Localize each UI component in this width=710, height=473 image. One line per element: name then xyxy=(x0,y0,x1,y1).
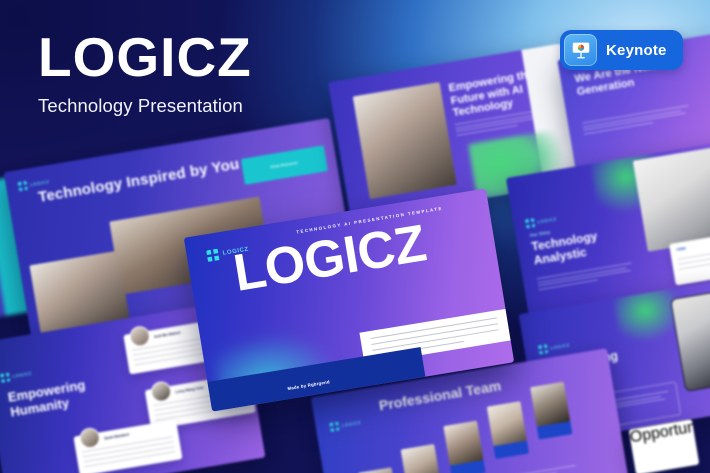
slide-logo: LOGICZ xyxy=(0,369,32,383)
body-lines xyxy=(537,263,634,291)
page-title: LOGICZ xyxy=(38,30,252,85)
keynote-presentation-icon xyxy=(564,34,597,66)
slide-logo: LOGICZ xyxy=(329,418,361,432)
avatar xyxy=(150,380,173,403)
logo-mark-icon xyxy=(525,218,535,228)
phone-mockup xyxy=(670,292,710,392)
team-member-card[interactable] xyxy=(487,401,529,459)
logo-mark-icon xyxy=(206,249,220,263)
member-photo xyxy=(487,401,527,446)
team-member-card[interactable] xyxy=(358,467,400,473)
stat-value: +999K xyxy=(676,246,687,252)
team-member-card[interactable] xyxy=(401,444,443,473)
view-discover-button[interactable]: View Discover xyxy=(241,145,328,185)
logo-mark-icon xyxy=(0,372,10,382)
logo-mark-icon xyxy=(329,422,339,432)
avatar xyxy=(128,325,151,348)
logo-mark-icon xyxy=(18,181,28,191)
slide-logo-text: LOGICZ xyxy=(537,216,557,224)
slide-title: Professional Team xyxy=(378,378,502,414)
slide-logo-text: LOGICZ xyxy=(341,420,361,428)
member-photo xyxy=(358,467,398,473)
member-photo xyxy=(530,382,570,427)
keynote-badge-label: Keynote xyxy=(606,42,667,59)
slide-logo: LOGICZ xyxy=(525,214,557,228)
team-member-card[interactable] xyxy=(530,382,572,440)
testimonial-name: Sarah Mandarct xyxy=(104,432,130,440)
slide-title: Empowering Humanity xyxy=(7,377,97,420)
button-label: View Discover xyxy=(241,145,328,185)
slide-opportunity[interactable]: Opportunity xyxy=(629,419,700,473)
avatar xyxy=(78,426,101,449)
slide-logo: LOGICZ xyxy=(538,340,570,354)
slide-title: Technology Inspired by You xyxy=(37,155,247,207)
team-member-card[interactable] xyxy=(443,421,485,473)
slide-logo-text: LOGICZ xyxy=(30,179,50,187)
slide-logo-text: LOGICZ xyxy=(550,342,570,350)
poster-canvas: LOGICZ We Are the Next Generation Produc… xyxy=(0,0,710,473)
keynote-badge[interactable]: Keynote xyxy=(560,30,683,70)
woman-laptop-photo xyxy=(353,82,457,199)
robot-photo xyxy=(633,144,710,252)
member-photo xyxy=(443,421,483,466)
slide-logo-text: LOGICZ xyxy=(12,371,32,379)
testimonial-card[interactable]: Sarah Mandarct xyxy=(73,420,182,473)
testimonial-name: Andi Bin Mahoni xyxy=(154,331,181,339)
poster-headline: LOGICZ Technology Presentation xyxy=(38,30,252,117)
hero-title: LOGICZ xyxy=(230,217,429,300)
page-subtitle: Technology Presentation xyxy=(38,95,252,117)
logo-mark-icon xyxy=(538,344,548,354)
testimonial-name: Leroy Wang Coso xyxy=(175,386,204,395)
body-lines xyxy=(582,105,691,135)
member-photo xyxy=(401,444,441,473)
